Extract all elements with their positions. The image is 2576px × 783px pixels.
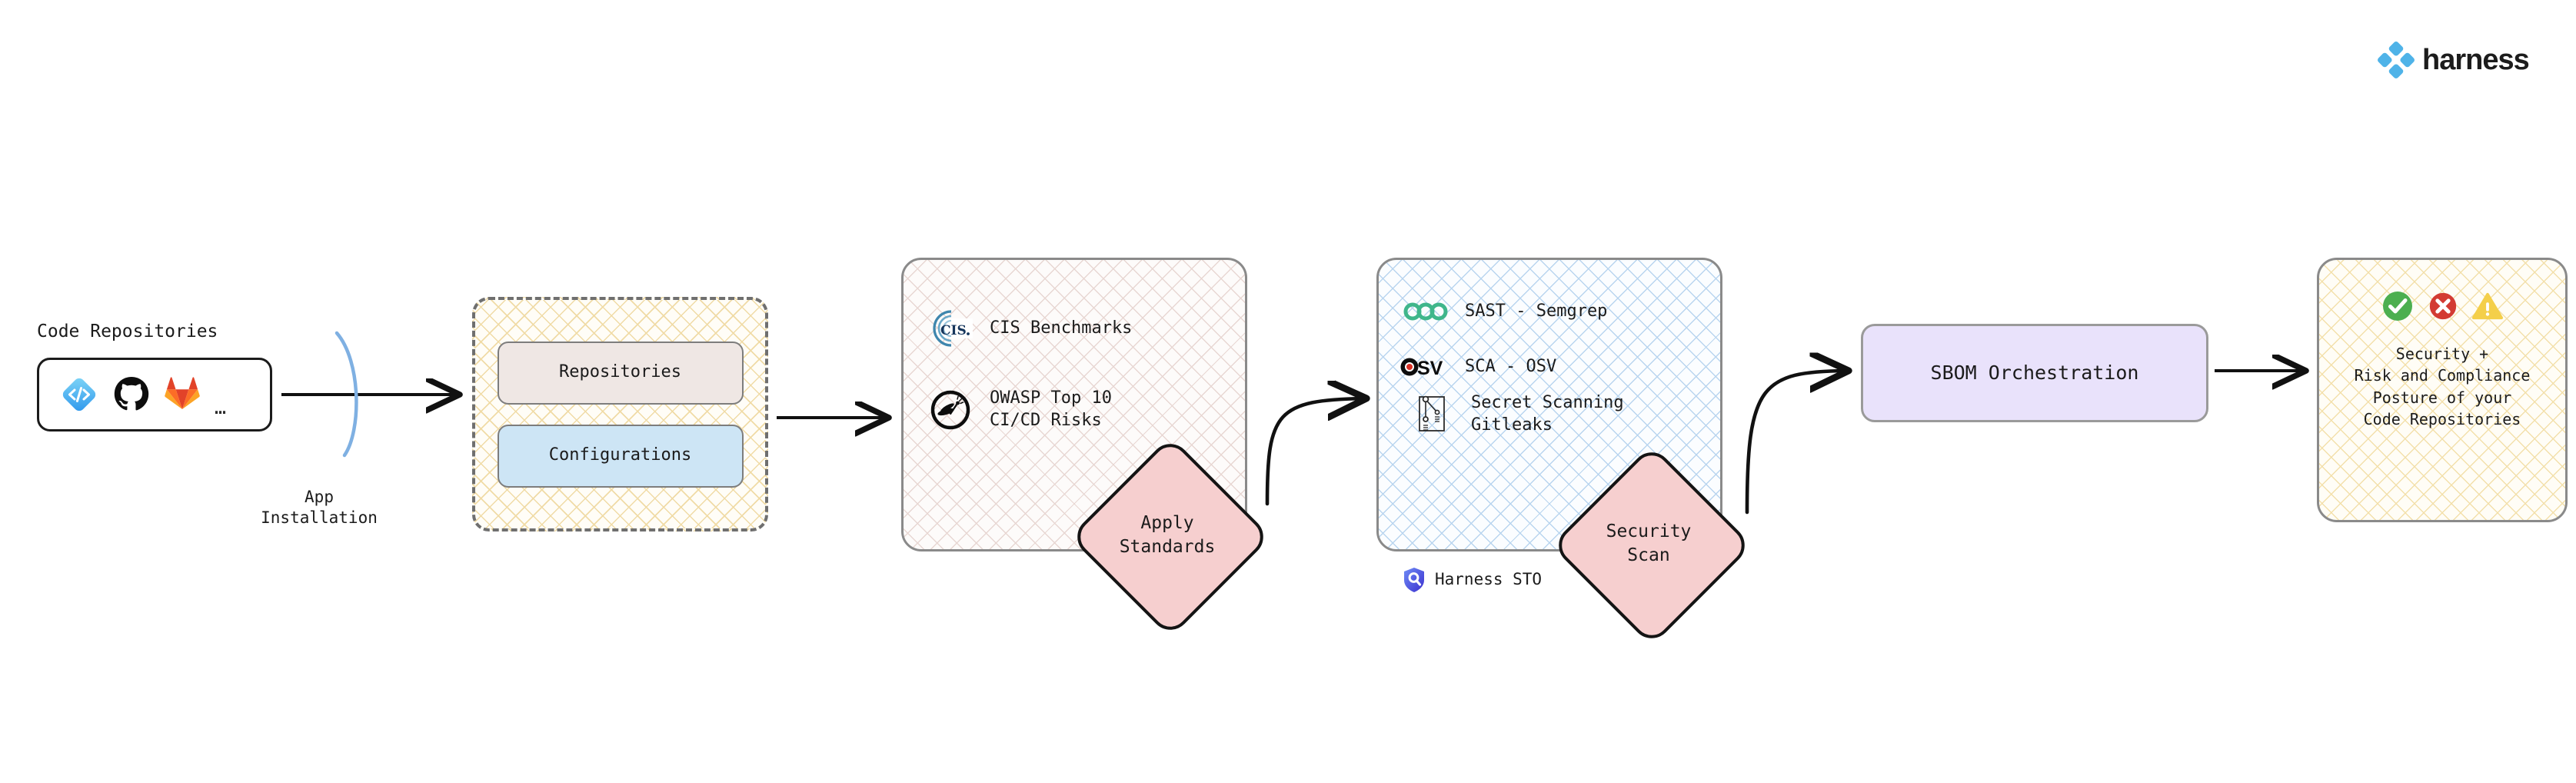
code-repositories-box: … — [37, 358, 272, 431]
scan-row-secret-label: Secret Scanning Gitleaks — [1471, 392, 1624, 436]
sbom-orchestration-card[interactable]: SBOM Orchestration — [1861, 324, 2208, 422]
outcome-status-icons — [2381, 289, 2504, 323]
outcome-description: Security + Risk and Compliance Posture o… — [2355, 343, 2531, 431]
cross-circle-icon — [2427, 290, 2459, 322]
standards-row-owasp-label: OWASP Top 10 CI/CD Risks — [990, 388, 1112, 431]
harness-sto-label: Harness STO — [1435, 569, 1542, 590]
ingest-item-repositories[interactable]: Repositories — [498, 342, 744, 405]
check-circle-icon — [2381, 289, 2415, 323]
ingest-item-configurations[interactable]: Configurations — [498, 425, 744, 488]
warning-triangle-icon — [2471, 291, 2504, 322]
github-icon — [113, 376, 150, 413]
semgrep-logo-icon — [1403, 289, 1448, 334]
ingest-item-repositories-label: Repositories — [559, 362, 681, 384]
svg-text:SV: SV — [1417, 358, 1443, 379]
code-repositories-title: Code Repositories — [37, 321, 218, 344]
scan-row-secret: Secret Scanning Gitleaks — [1409, 392, 1624, 437]
harness-sto-shield-icon — [1403, 567, 1426, 593]
more-repos-ellipsis: … — [215, 396, 228, 418]
code-repo-icon — [59, 375, 99, 415]
apply-standards-diamond-label: Apply Standards — [1079, 511, 1256, 559]
gitlab-icon — [164, 376, 201, 413]
cis-logo-icon: CIS — [928, 306, 973, 351]
security-scan-diamond-label: Security Scan — [1560, 520, 1737, 568]
ingest-item-configurations-label: Configurations — [549, 445, 691, 467]
svg-text:CIS: CIS — [940, 323, 967, 338]
osv-logo-icon: SV — [1400, 345, 1448, 389]
owasp-logo-icon — [928, 388, 973, 432]
scan-row-sca-label: SCA - OSV — [1465, 356, 1556, 378]
gitleaks-logo-icon — [1409, 392, 1454, 437]
harness-sto-caption: Harness STO — [1403, 567, 1542, 593]
ingest-container: Repositories Configurations — [472, 297, 768, 531]
harness-diamond-logo-icon — [2379, 43, 2413, 77]
arrow-standards-to-scan — [1267, 398, 1365, 504]
standards-row-cis: CIS CIS Benchmarks — [928, 306, 1132, 351]
standards-row-cis-label: CIS Benchmarks — [990, 318, 1132, 340]
standards-row-owasp: OWASP Top 10 CI/CD Risks — [928, 388, 1112, 432]
arrow-scan-to-sbom — [1747, 371, 1847, 512]
outcome-card: Security + Risk and Compliance Posture o… — [2317, 258, 2568, 522]
app-installation-label: App Installation — [250, 487, 388, 528]
harness-brand-name: harness — [2422, 44, 2529, 77]
scan-row-sast: SAST - Semgrep — [1403, 289, 1607, 334]
harness-brand-logo: harness — [2379, 43, 2529, 77]
scan-row-sast-label: SAST - Semgrep — [1465, 301, 1607, 323]
app-installation-arc — [337, 333, 356, 455]
sbom-orchestration-label: SBOM Orchestration — [1931, 361, 2139, 386]
scan-row-sca: SV SCA - OSV — [1400, 345, 1556, 389]
